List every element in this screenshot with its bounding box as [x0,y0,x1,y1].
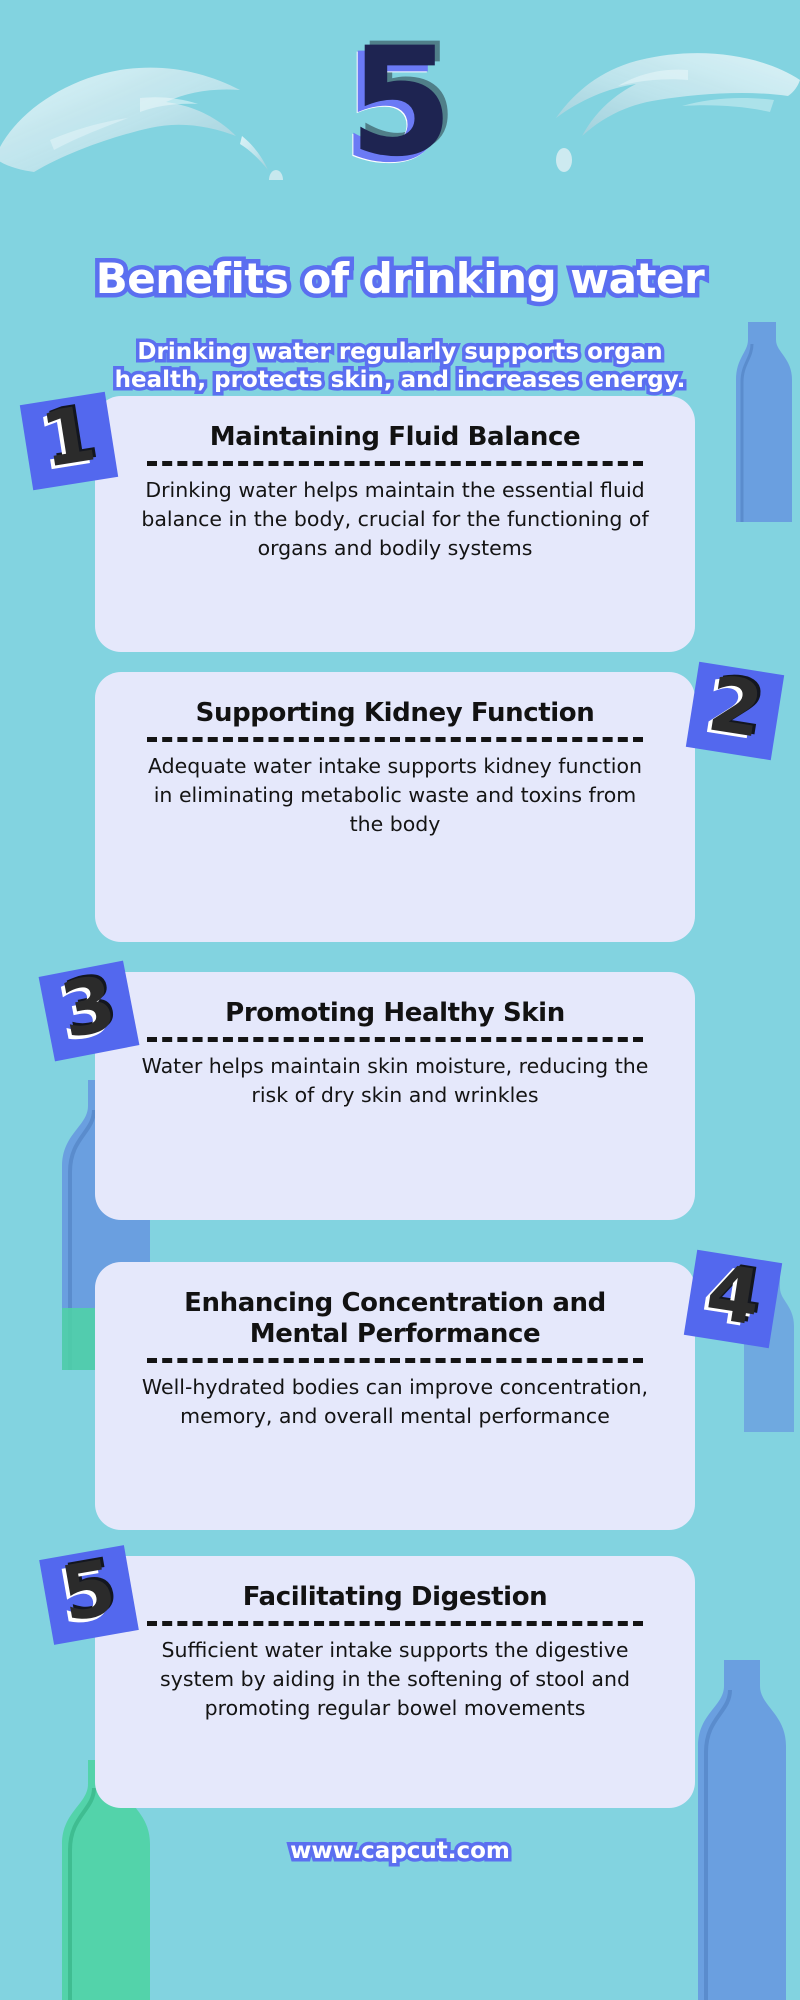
benefit-card-1-title: Maintaining Fluid Balance [141,422,649,453]
benefit-badge-2-number: 2 [704,665,768,748]
benefit-card-5[interactable]: Facilitating Digestion Sufficient water … [95,1556,695,1808]
page-title: Benefits of drinking water [96,256,704,301]
benefit-card-5-divider [147,1621,643,1626]
benefit-card-4-body: Well-hydrated bodies can improve concent… [141,1373,649,1431]
benefit-badge-1-number: 1 [36,395,100,478]
benefit-card-1[interactable]: Maintaining Fluid Balance Drinking water… [95,396,695,652]
infographic-page: 5 Benefits of drinking water Drinking wa… [0,0,800,2000]
footer: www.capcut.com [0,1838,800,1864]
benefit-card-3[interactable]: Promoting Healthy Skin Water helps maint… [95,972,695,1220]
benefit-card-5-body: Sufficient water intake supports the dig… [141,1636,649,1723]
benefit-card-4-divider [147,1358,643,1363]
benefit-badge-4-number: 4 [702,1253,766,1336]
header-block: Benefits of drinking water Drinking wate… [0,228,800,394]
benefit-badge-1: 1 [20,392,118,490]
footer-url[interactable]: www.capcut.com [290,1838,510,1864]
benefit-badge-3: 3 [39,961,140,1062]
benefit-badge-5: 5 [39,1545,139,1645]
benefit-card-3-title: Promoting Healthy Skin [141,998,649,1029]
page-subtitle: Drinking water regularly supports organ … [100,338,700,394]
benefit-card-4[interactable]: Enhancing Concentration and Mental Perfo… [95,1262,695,1530]
benefit-badge-4: 4 [684,1250,782,1348]
benefit-card-5-title: Facilitating Digestion [141,1582,649,1613]
benefit-badge-5-number: 5 [56,1549,121,1633]
benefit-card-1-body: Drinking water helps maintain the essent… [141,476,649,563]
hero-number: 5 [0,28,800,178]
benefit-card-4-title: Enhancing Concentration and Mental Perfo… [141,1288,649,1350]
benefit-card-2-divider [147,737,643,742]
benefit-badge-3-number: 3 [55,965,121,1050]
benefit-badge-2: 2 [686,662,784,760]
benefit-card-1-divider [147,461,643,466]
benefit-card-2[interactable]: Supporting Kidney Function Adequate wate… [95,672,695,942]
benefit-card-3-divider [147,1037,643,1042]
benefit-card-3-body: Water helps maintain skin moisture, redu… [141,1052,649,1110]
benefit-card-2-title: Supporting Kidney Function [141,698,649,729]
benefit-card-2-body: Adequate water intake supports kidney fu… [141,752,649,839]
